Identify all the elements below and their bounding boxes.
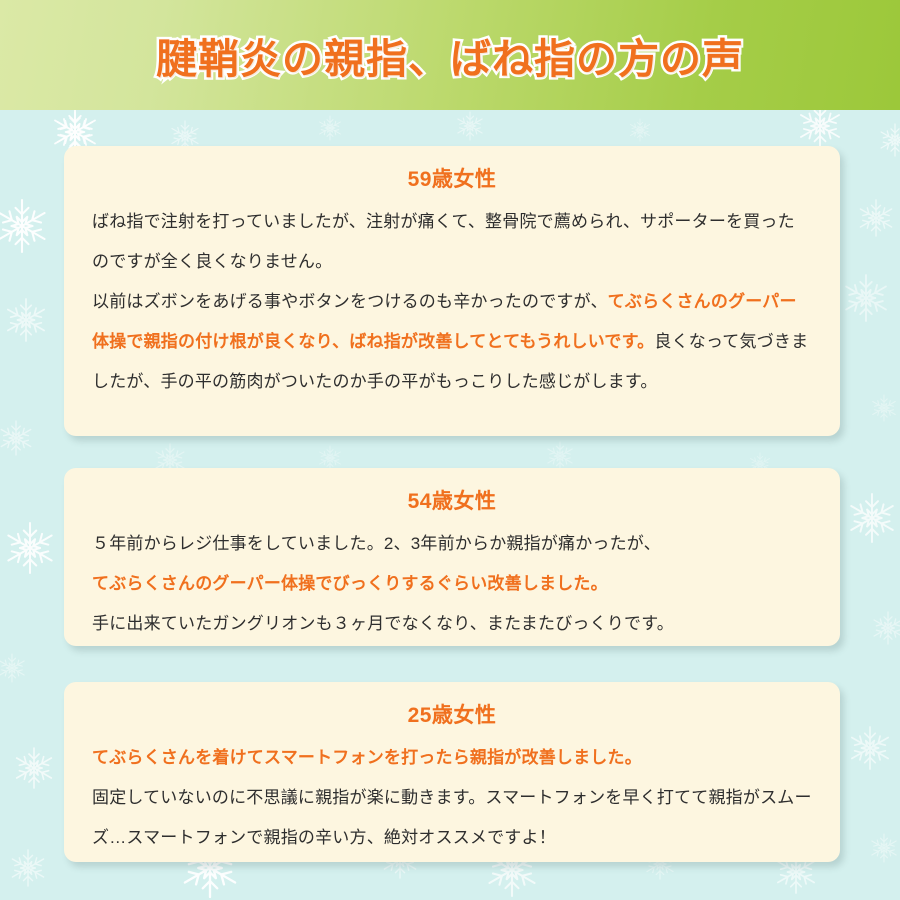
testimonial-paragraph: 手に出来ていたガングリオンも３ヶ月でなくなり、またまたびっくりです。: [92, 604, 812, 644]
testimonial-highlight: てぶらくさんのグーパー体操でびっくりするぐらい改善しました。: [92, 574, 608, 593]
testimonial-text: ５年前からレジ仕事をしていました。2、3年前からか親指が痛かったが、: [92, 534, 661, 553]
testimonial-card: 25歳女性 てぶらくさんを着けてスマートフォンを打ったら親指が改善しました。 固…: [64, 682, 840, 862]
page-title: 腱鞘炎の親指、ばね指の方の声: [0, 0, 900, 110]
testimonial-text: 手に出来ていたガングリオンも３ヶ月でなくなり、またまたびっくりです。: [92, 614, 674, 633]
testimonial-paragraph: てぶらくさんのグーパー体操でびっくりするぐらい改善しました。: [92, 564, 812, 604]
testimonial-text: ばね指で注射を打っていましたが、注射が痛くて、整骨院で薦められ、サポーターを買っ…: [92, 212, 795, 271]
page-root: 腱鞘炎の親指、ばね指の方の声: [0, 0, 900, 900]
testimonial-body: ５年前からレジ仕事をしていました。2、3年前からか親指が痛かったが、 てぶらくさ…: [92, 524, 812, 644]
testimonial-text: 以前はズボンをあげる事やボタンをつけるのも辛かったのですが、: [92, 292, 608, 311]
header-banner: 腱鞘炎の親指、ばね指の方の声: [0, 0, 900, 110]
testimonial-paragraph: ５年前からレジ仕事をしていました。2、3年前からか親指が痛かったが、: [92, 524, 812, 564]
testimonial-paragraph: 固定していないのに不思議に親指が楽に動きます。スマートフォンを早く打てて親指がス…: [92, 778, 812, 858]
testimonial-card: 59歳女性 ばね指で注射を打っていましたが、注射が痛くて、整骨院で薦められ、サポ…: [64, 146, 840, 436]
testimonial-highlight: てぶらくさんを着けてスマートフォンを打ったら親指が改善しました。: [92, 748, 642, 767]
testimonial-list: 59歳女性 ばね指で注射を打っていましたが、注射が痛くて、整骨院で薦められ、サポ…: [0, 0, 900, 900]
testimonial-title: 25歳女性: [92, 700, 812, 732]
testimonial-body: ばね指で注射を打っていましたが、注射が痛くて、整骨院で薦められ、サポーターを買っ…: [92, 202, 812, 402]
testimonial-text: 固定していないのに不思議に親指が楽に動きます。スマートフォンを早く打てて親指がス…: [92, 788, 812, 847]
testimonial-paragraph: ばね指で注射を打っていましたが、注射が痛くて、整骨院で薦められ、サポーターを買っ…: [92, 202, 812, 282]
testimonial-card: 54歳女性 ５年前からレジ仕事をしていました。2、3年前からか親指が痛かったが、…: [64, 468, 840, 646]
testimonial-title: 54歳女性: [92, 486, 812, 518]
testimonial-title: 59歳女性: [92, 164, 812, 196]
testimonial-paragraph: 以前はズボンをあげる事やボタンをつけるのも辛かったのですが、てぶらくさんのグーパ…: [92, 282, 812, 402]
testimonial-body: てぶらくさんを着けてスマートフォンを打ったら親指が改善しました。 固定していない…: [92, 738, 812, 858]
testimonial-paragraph: てぶらくさんを着けてスマートフォンを打ったら親指が改善しました。: [92, 738, 812, 778]
